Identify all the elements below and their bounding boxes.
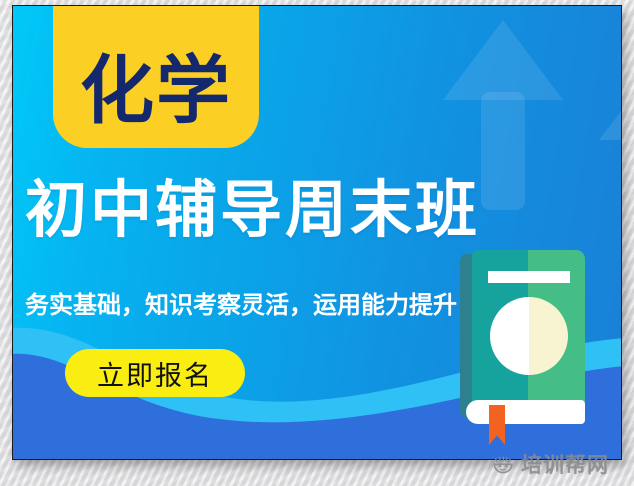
course-promo-banner: 化学 初中辅导周末班 务实基础，知识考察灵活，运用能力提升 立即报名	[13, 6, 621, 459]
book-title-bar	[488, 271, 570, 283]
up-arrow-secondary-icon	[599, 68, 621, 228]
sun-face-icon	[492, 454, 514, 476]
subject-badge: 化学	[53, 6, 259, 148]
up-arrow-head	[599, 68, 621, 140]
up-arrow-head	[443, 20, 563, 100]
banner-frame: 化学 初中辅导周末班 务实基础，知识考察灵活，运用能力提升 立即报名	[12, 5, 622, 460]
banner-subheadline: 务实基础，知识考察灵活，运用能力提升	[25, 292, 457, 318]
enroll-now-button-label: 立即报名	[97, 354, 213, 393]
subject-badge-label: 化学	[80, 54, 232, 148]
book-illustration	[460, 250, 588, 430]
site-watermark-label: 培训帮网	[521, 455, 609, 476]
banner-headline: 初中辅导周末班	[25, 177, 585, 242]
enroll-now-button[interactable]: 立即报名	[65, 349, 245, 397]
page-background: 化学 初中辅导周末班 务实基础，知识考察灵活，运用能力提升 立即报名	[0, 0, 634, 486]
book-pages	[466, 400, 585, 424]
site-watermark: 培训帮网	[492, 454, 609, 476]
